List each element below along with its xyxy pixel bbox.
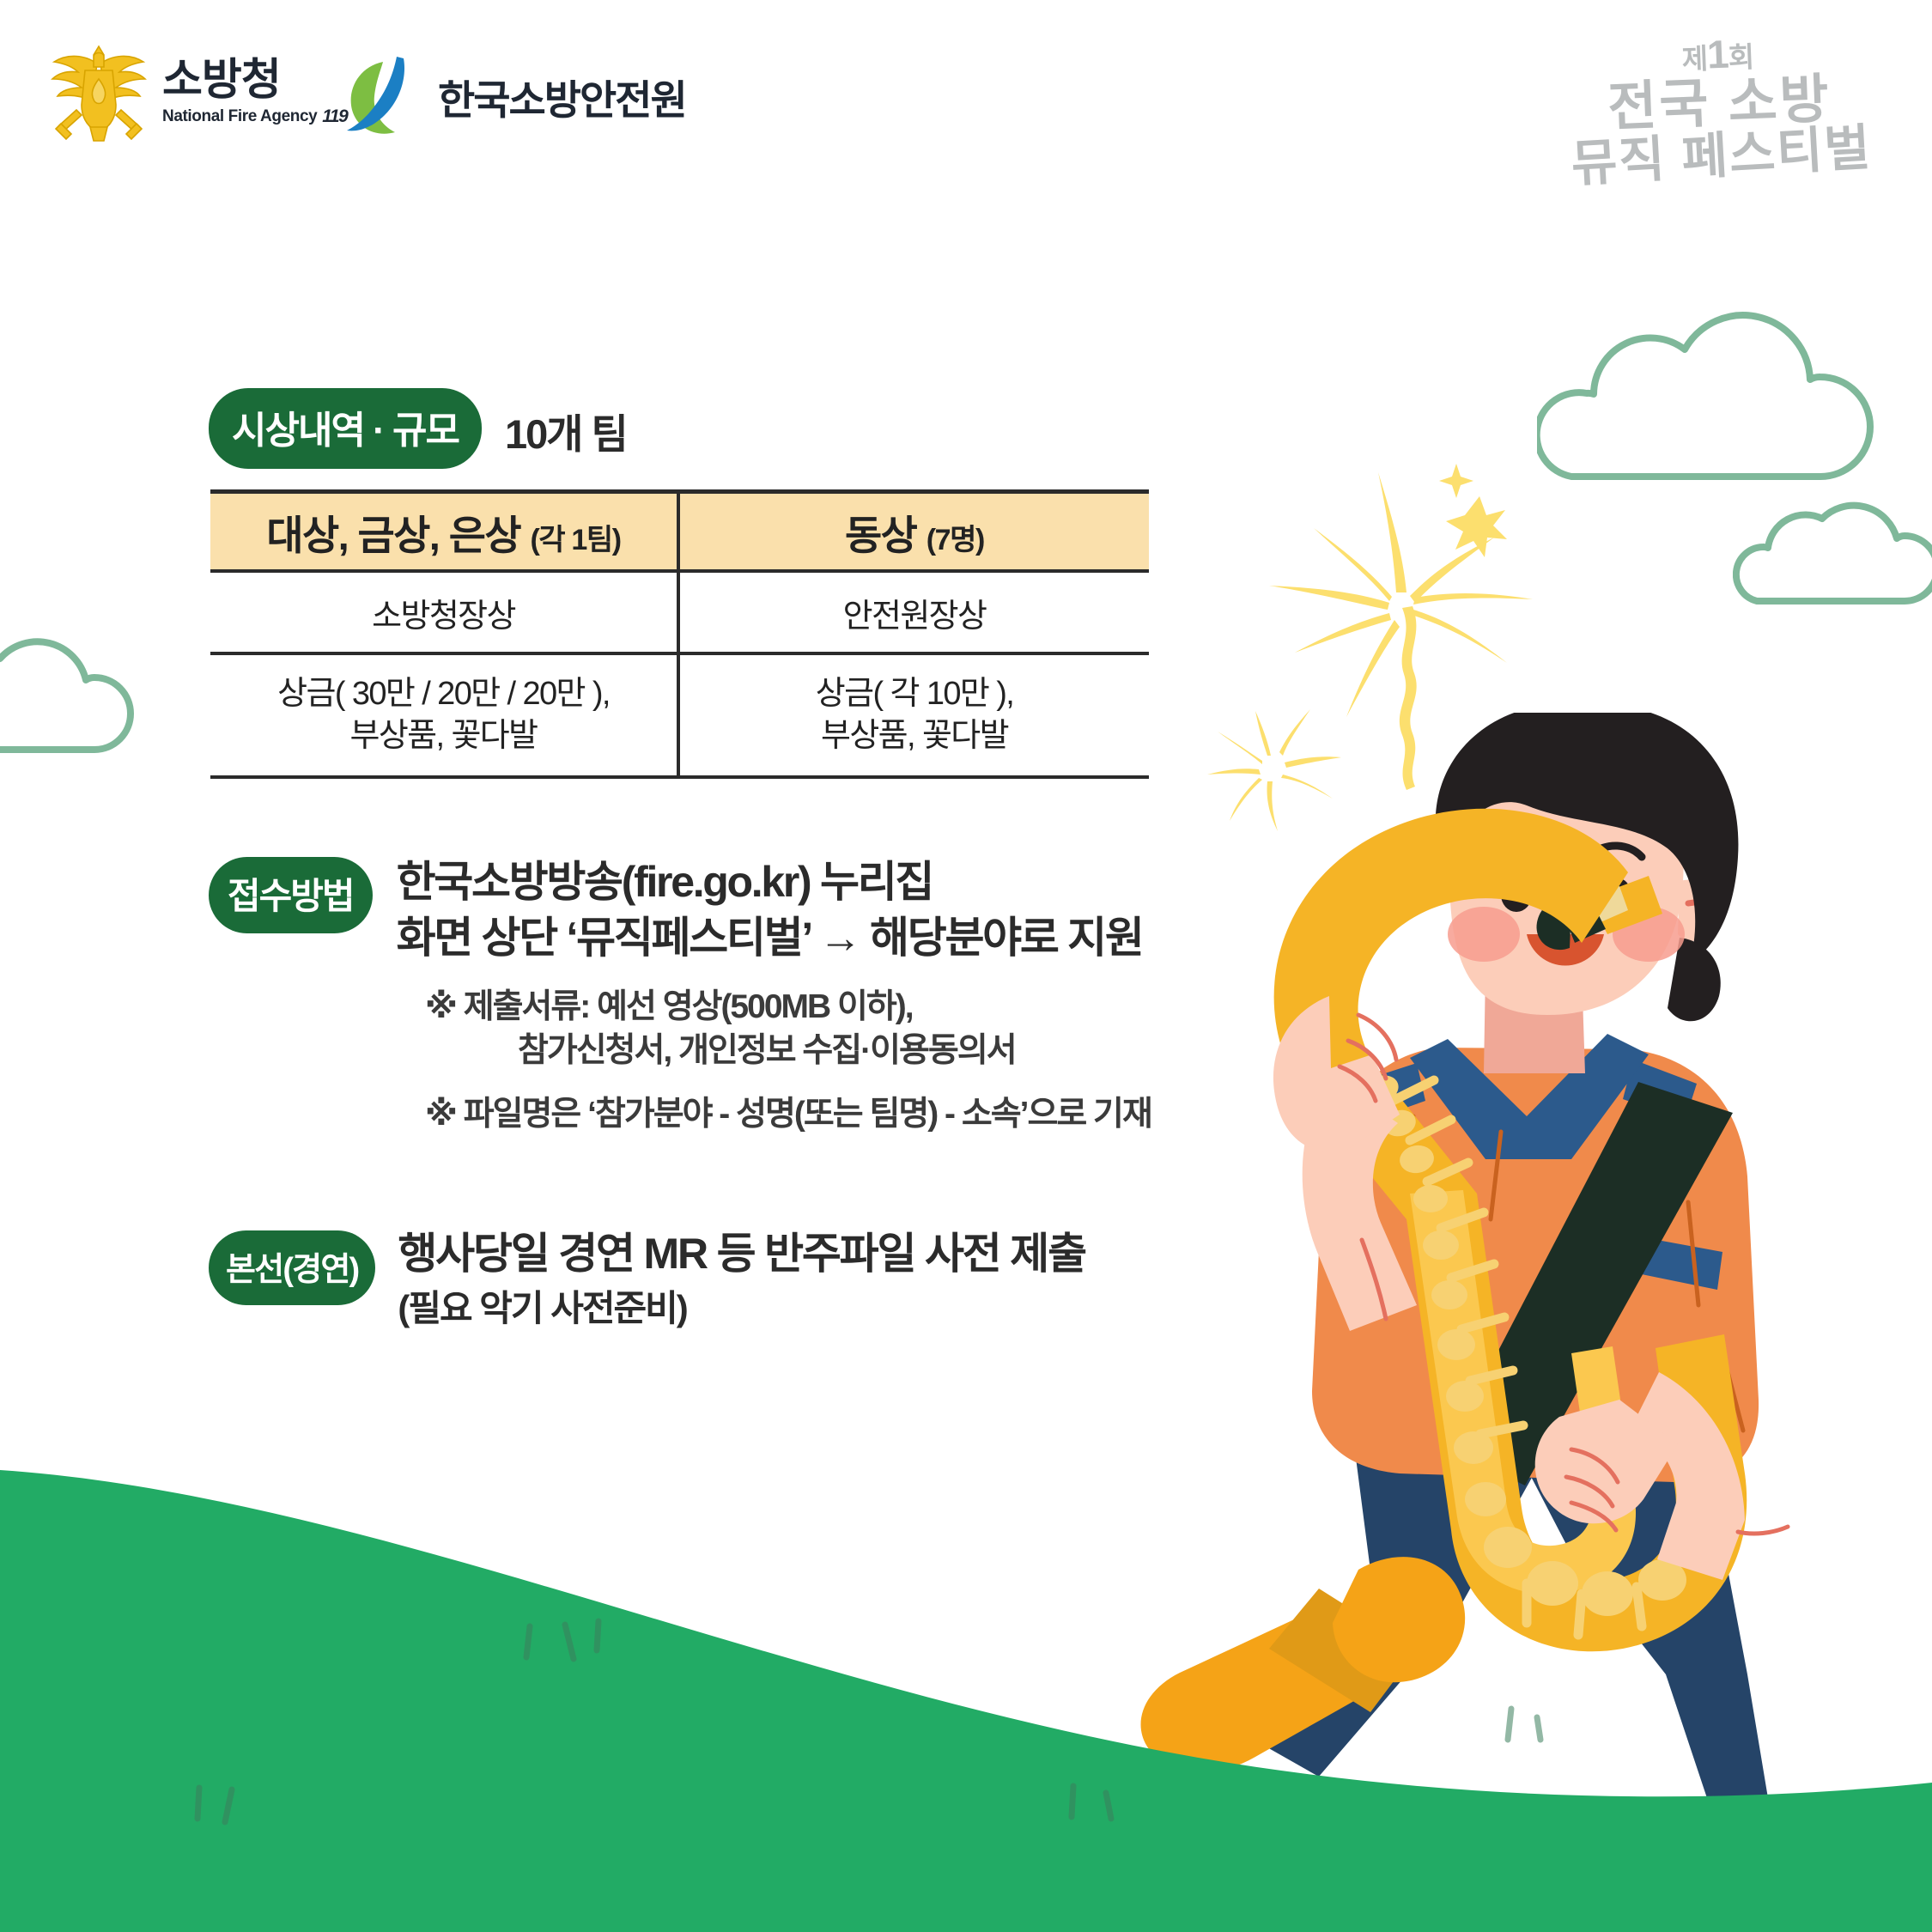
poster-canvas: 소방청 National Fire Agency 119 한국소방안전원 제1회… <box>0 0 1932 1932</box>
apply-note-2: ※ 파일명은 ‘참가분야 - 성명(또는 팀명) - 소속’으로 기재 <box>425 1092 1151 1136</box>
final-section-header: 본선(경연) 행사당일 경연 MR 등 반주파일 사전 제출 (필요 악기 사전… <box>209 1228 1085 1333</box>
award-section-header: 시상내역 · 규모 10개 팀 <box>209 388 627 469</box>
apply-section-header: 접수방법 한국소방방송(fire.go.kr) 누리집 화면 상단 ‘뮤직페스티… <box>209 854 1151 966</box>
final-lines: 행사당일 경연 MR 등 반주파일 사전 제출 (필요 악기 사전준비) <box>398 1228 1085 1333</box>
apply-notes: ※ 제출서류: 예선 영상(500MB 이하), 참가신청서, 개인정보 수집·… <box>425 985 1151 1136</box>
apply-section-pill: 접수방법 <box>209 857 373 933</box>
award-name-2: 안전원장상 <box>678 571 1149 653</box>
table-header-row: 대상, 금상, 은상 (각 1팀) 동상 (7명) <box>210 492 1149 572</box>
apply-note-1-line1: ※ 제출서류: 예선 영상(500MB 이하), <box>425 985 1151 1029</box>
header-main-1: 대상, 금상, 은상 <box>266 513 520 558</box>
award-prize-1: 상금( 30만 / 20만 / 20만 ), 부상품, 꽃다발 <box>210 653 678 777</box>
award-section-pill: 시상내역 · 규모 <box>209 388 482 469</box>
award-name-1: 소방청장상 <box>210 571 678 653</box>
final-section: 본선(경연) 행사당일 경연 MR 등 반주파일 사전 제출 (필요 악기 사전… <box>209 1228 1085 1333</box>
poster-content: 시상내역 · 규모 10개 팀 대상, 금상, 은상 (각 1팀) 동상 (7명… <box>0 0 1932 1932</box>
header-sub-1: (각 1팀) <box>530 524 620 556</box>
table-row: 상금( 30만 / 20만 / 20만 ), 부상품, 꽃다발 상금( 각 10… <box>210 653 1149 777</box>
final-section-pill: 본선(경연) <box>209 1230 375 1305</box>
apply-line-2: 화면 상단 ‘뮤직페스티벌’ → 해당분야로 지원 <box>397 910 1143 966</box>
table-header-cell-1: 대상, 금상, 은상 (각 1팀) <box>210 492 678 572</box>
table-header-cell-2: 동상 (7명) <box>678 492 1149 572</box>
header-sub-2: (7명) <box>927 524 984 556</box>
header-main-2: 동상 <box>845 513 916 558</box>
apply-section: 접수방법 한국소방방송(fire.go.kr) 누리집 화면 상단 ‘뮤직페스티… <box>209 854 1151 1136</box>
apply-line-1: 한국소방방송(fire.go.kr) 누리집 <box>397 854 1143 910</box>
award-prize-2-line1: 상금( 각 10만 ), <box>680 673 1149 715</box>
award-prize-2: 상금( 각 10만 ), 부상품, 꽃다발 <box>678 653 1149 777</box>
final-line-2: (필요 악기 사전준비) <box>398 1285 1085 1333</box>
award-prize-1-line1: 상금( 30만 / 20만 / 20만 ), <box>210 673 677 715</box>
award-table: 대상, 금상, 은상 (각 1팀) 동상 (7명) 소방청장상 안전원장상 <box>210 489 1149 779</box>
award-prize-2-line2: 부상품, 꽃다발 <box>680 715 1149 757</box>
apply-main-lines: 한국소방방송(fire.go.kr) 누리집 화면 상단 ‘뮤직페스티벌’ → … <box>397 854 1143 966</box>
award-scale-note: 10개 팀 <box>505 401 627 460</box>
award-prize-1-line2: 부상품, 꽃다발 <box>210 715 677 757</box>
table-row: 소방청장상 안전원장상 <box>210 571 1149 653</box>
apply-note-1-line2: 참가신청서, 개인정보 수집·이용동의서 <box>425 1029 1151 1072</box>
final-line-1: 행사당일 경연 MR 등 반주파일 사전 제출 <box>398 1228 1085 1280</box>
